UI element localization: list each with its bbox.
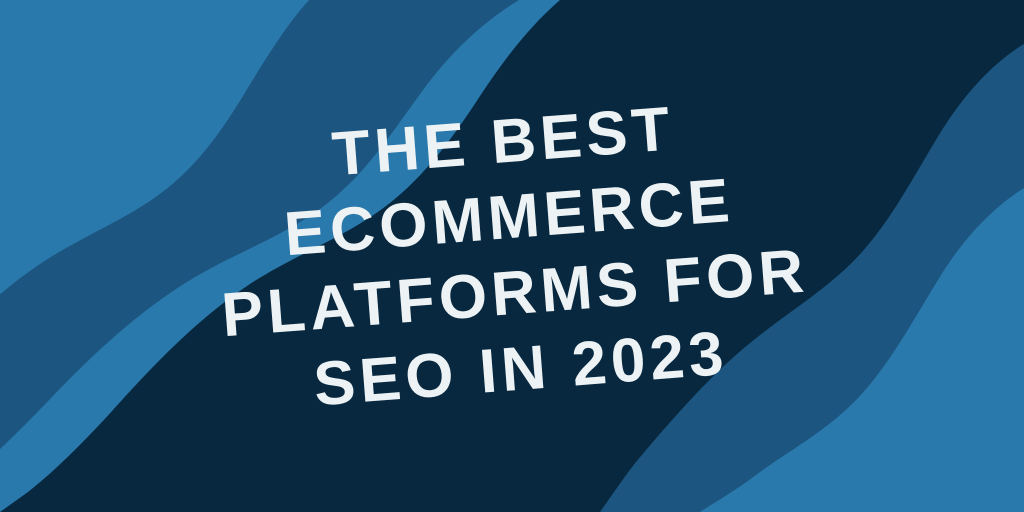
headline-block: THE BEST ECOMMERCE PLATFORMS FOR SEO IN … (0, 0, 1024, 512)
banner-featured-image: THE BEST ECOMMERCE PLATFORMS FOR SEO IN … (0, 0, 1024, 512)
